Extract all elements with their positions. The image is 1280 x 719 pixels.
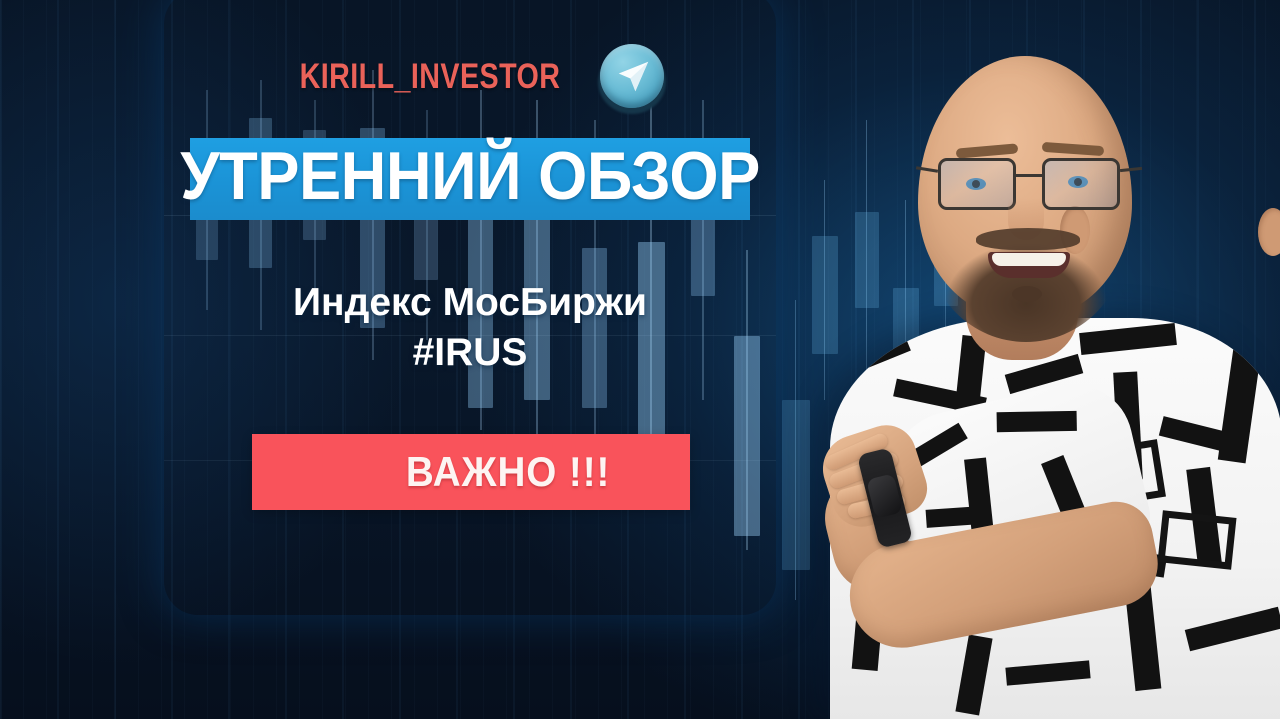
card-header-row: KIRILL_INVESTOR [164, 40, 776, 114]
telegram-icon-disc [600, 44, 664, 108]
subtitle-line-1: Индекс МосБиржи [293, 281, 647, 324]
presenter-photo [770, 0, 1280, 719]
presenter-teeth [992, 253, 1066, 266]
thumbnail-canvas: KIRILL_INVESTOR УТРЕННИЙ ОБЗОР Индекс Мо… [0, 0, 1280, 719]
important-badge-label: ВАЖНО !!! [406, 448, 610, 496]
eyeglass-bridge [1016, 174, 1042, 177]
subtitle-line-2: #IRUS [164, 328, 776, 378]
eyeglass-lens-left [938, 158, 1016, 210]
eyeglass-lens-right [1042, 158, 1120, 210]
presenter-mouth [988, 252, 1070, 278]
important-badge[interactable]: ВАЖНО !!! [252, 434, 690, 510]
announcement-card: KIRILL_INVESTOR УТРЕННИЙ ОБЗОР Индекс Мо… [164, 0, 776, 615]
subtitle-block: Индекс МосБиржи #IRUS [164, 278, 776, 378]
headline-text: УТРЕННИЙ ОБЗОР [210, 130, 731, 222]
wrist-band-face [866, 473, 903, 519]
paper-plane-icon [614, 57, 652, 95]
presenter-mustache [976, 228, 1080, 250]
presenter-soul-patch [1012, 286, 1042, 302]
telegram-icon[interactable] [595, 40, 669, 114]
presenter-ear-right [1258, 208, 1280, 256]
brand-name: KIRILL_INVESTOR [300, 57, 561, 97]
